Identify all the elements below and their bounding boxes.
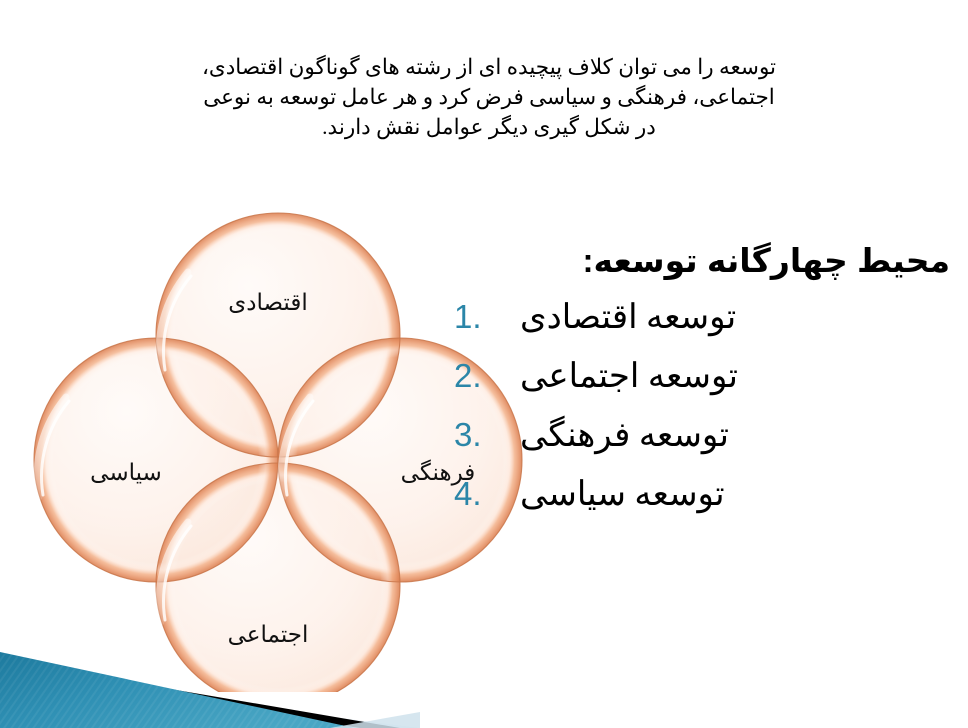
intro-line-2: اجتماعی، فرهنگی و سیاسی فرض کرد و هر عام… xyxy=(52,82,926,112)
list-item-label: توسعه فرهنگی xyxy=(506,407,950,465)
venn-label-economic: اقتصادی xyxy=(188,290,348,316)
intro-paragraph: توسعه را می توان کلاف پیچیده ای از رشته … xyxy=(52,52,926,142)
slide-canvas: توسعه را می توان کلاف پیچیده ای از رشته … xyxy=(0,0,968,728)
list-item: 1. توسعه اقتصادی xyxy=(430,288,950,347)
intro-line-1: توسعه را می توان کلاف پیچیده ای از رشته … xyxy=(52,52,926,82)
list-item-label: توسعه سیاسی xyxy=(506,466,950,524)
list-item-label: توسعه اقتصادی xyxy=(506,289,950,347)
venn-label-social: اجتماعی xyxy=(188,622,348,648)
right-content-panel: محیط چهارگانه توسعه: 1. توسعه اقتصادی 2.… xyxy=(430,238,950,524)
intro-line-3: در شکل گیری دیگر عوامل نقش دارند. xyxy=(52,112,926,142)
list-item-label: توسعه اجتماعی xyxy=(506,348,950,406)
list-item: 4. توسعه سیاسی xyxy=(430,465,950,524)
list-item-number: 2. xyxy=(454,347,506,405)
list-item: 3. توسعه فرهنگی xyxy=(430,406,950,465)
venn-label-political: سیاسی xyxy=(46,460,206,486)
list-item-number: 4. xyxy=(454,465,506,523)
list-item-number: 3. xyxy=(454,406,506,464)
development-list: 1. توسعه اقتصادی 2. توسعه اجتماعی 3. توس… xyxy=(430,288,950,524)
list-item: 2. توسعه اجتماعی xyxy=(430,347,950,406)
list-item-number: 1. xyxy=(454,288,506,346)
page-title: محیط چهارگانه توسعه: xyxy=(430,238,950,284)
